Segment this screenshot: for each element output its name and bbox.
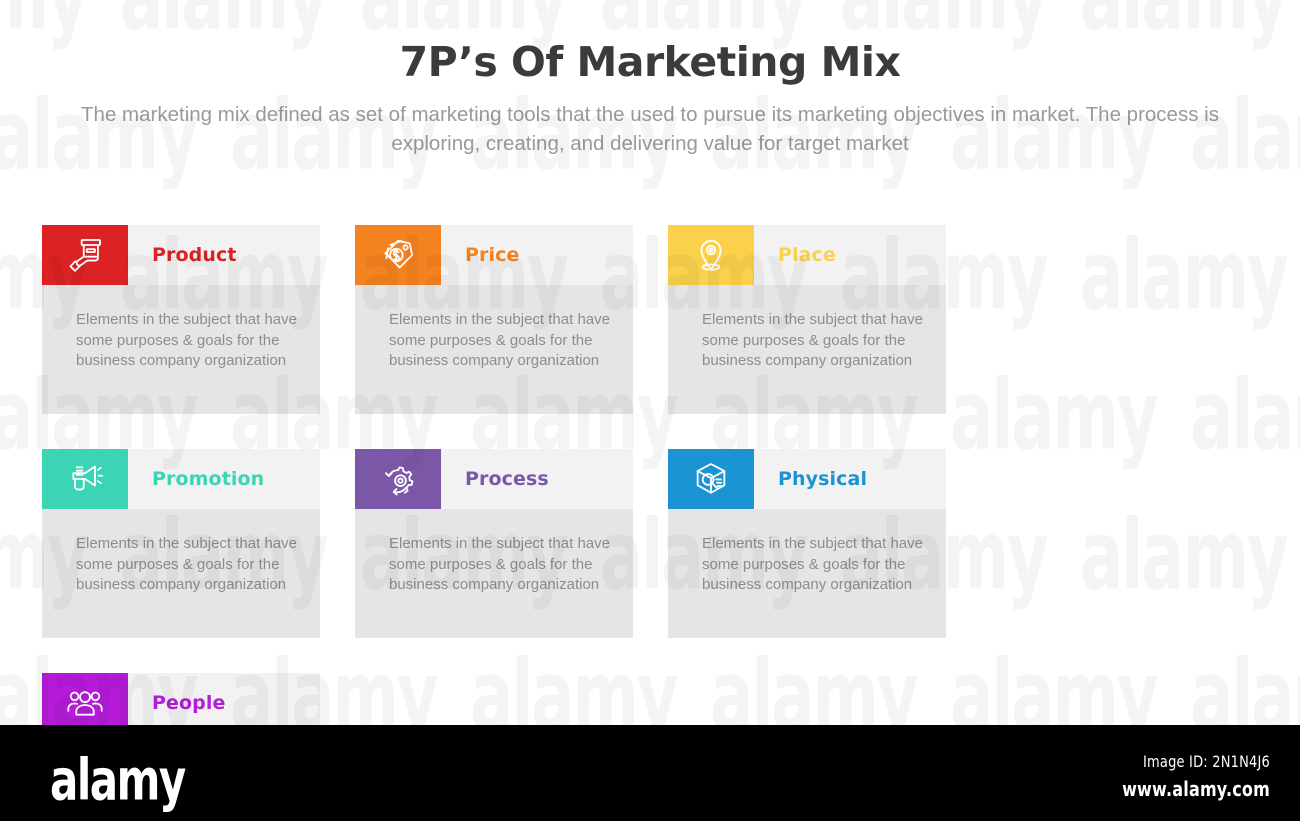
card-place[interactable]: PlaceElements in the subject that have s…	[668, 225, 946, 414]
card-description: Elements in the subject that have some p…	[702, 310, 924, 372]
card-header: Physical	[668, 449, 946, 509]
card-product[interactable]: ProductElements in the subject that have…	[42, 225, 320, 414]
price-tags-icon	[355, 225, 441, 285]
alamy-url-label: www.alamy.com	[1122, 777, 1270, 801]
hand-holding-box-icon	[42, 225, 128, 285]
card-header: Promotion	[42, 449, 320, 509]
card-description: Elements in the subject that have some p…	[76, 534, 298, 596]
card-header: Process	[355, 449, 633, 509]
card-title: Place	[778, 244, 836, 266]
card-header: Price	[355, 225, 633, 285]
people-group-icon	[42, 673, 128, 733]
page-title: 7P’s Of Marketing Mix	[0, 38, 1300, 86]
image-id-label: Image ID: 2N1N4J6	[1122, 753, 1270, 772]
card-description: Elements in the subject that have some p…	[702, 534, 924, 596]
megaphone-icon	[42, 449, 128, 509]
map-pin-icon	[668, 225, 754, 285]
card-body: Elements in the subject that have some p…	[42, 285, 320, 414]
card-description: Elements in the subject that have some p…	[76, 310, 298, 372]
card-physical[interactable]: PhysicalElements in the subject that hav…	[668, 449, 946, 638]
cube-search-icon	[668, 449, 754, 509]
card-title: Product	[152, 244, 237, 266]
card-body: Elements in the subject that have some p…	[668, 509, 946, 638]
card-header: People	[42, 673, 320, 733]
page-subtitle: The marketing mix defined as set of mark…	[63, 100, 1238, 158]
card-description: Elements in the subject that have some p…	[389, 310, 611, 372]
header: 7P’s Of Marketing Mix The marketing mix …	[0, 0, 1300, 158]
card-price[interactable]: PriceElements in the subject that have s…	[355, 225, 633, 414]
card-title: People	[152, 692, 225, 714]
card-body: Elements in the subject that have some p…	[355, 285, 633, 414]
card-title: Price	[465, 244, 519, 266]
gear-refresh-icon	[355, 449, 441, 509]
alamy-logo: alamy	[50, 747, 185, 813]
alamy-footer-bar: alamy Image ID: 2N1N4J6 www.alamy.com	[0, 725, 1300, 821]
card-promotion[interactable]: PromotionElements in the subject that ha…	[42, 449, 320, 638]
card-title: Promotion	[152, 468, 264, 490]
card-description: Elements in the subject that have some p…	[389, 534, 611, 596]
card-body: Elements in the subject that have some p…	[355, 509, 633, 638]
infographic-canvas: alamyalamyalamyalamyalamyalamyalamyalamy…	[0, 0, 1300, 821]
card-title: Process	[465, 468, 549, 490]
card-body: Elements in the subject that have some p…	[668, 285, 946, 414]
card-header: Product	[42, 225, 320, 285]
card-body: Elements in the subject that have some p…	[42, 509, 320, 638]
card-header: Place	[668, 225, 946, 285]
card-process[interactable]: ProcessElements in the subject that have…	[355, 449, 633, 638]
card-title: Physical	[778, 468, 867, 490]
footer-meta: Image ID: 2N1N4J6 www.alamy.com	[1122, 753, 1270, 796]
